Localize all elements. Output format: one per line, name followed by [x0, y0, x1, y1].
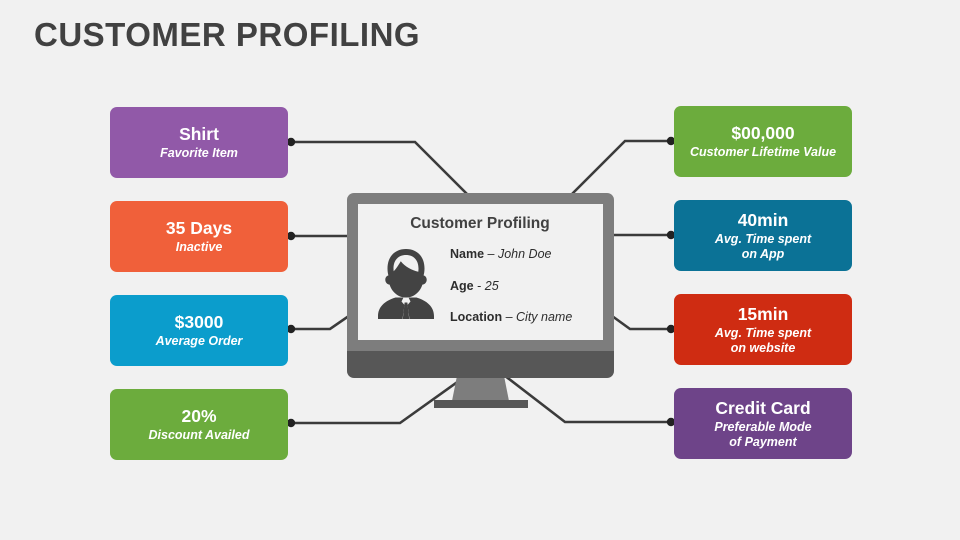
- profile-fields: Name – John Doe Age - 25 Location – City…: [450, 248, 610, 343]
- connector-dot-left-1: [287, 138, 295, 146]
- profile-row-age: Age - 25: [450, 280, 610, 293]
- card-label: Customer Lifetime Value: [690, 145, 836, 160]
- slide-canvas: CUSTOMER PROFILING Shirt Favorite Item: [0, 0, 960, 540]
- card-discount-availed[interactable]: 20% Discount Availed: [110, 389, 288, 460]
- card-time-spent-app[interactable]: 40min Avg. Time spent on App: [674, 200, 852, 271]
- profile-key: Name: [450, 247, 484, 261]
- profile-value: John Doe: [498, 247, 552, 261]
- card-value: $00,000: [731, 123, 794, 143]
- profile-separator: -: [477, 279, 481, 293]
- profile-value: 25: [485, 279, 499, 293]
- connector-dot-left-2: [287, 232, 295, 240]
- connector-right-4: [500, 372, 670, 422]
- monitor-bottom-bezel: [347, 351, 614, 378]
- card-inactive-days[interactable]: 35 Days Inactive: [110, 201, 288, 272]
- card-average-order[interactable]: $3000 Average Order: [110, 295, 288, 366]
- connector-left-1: [292, 142, 470, 197]
- profile-separator: –: [488, 247, 495, 261]
- profile-row-name: Name – John Doe: [450, 248, 610, 261]
- card-value: $3000: [175, 312, 224, 332]
- card-value: Credit Card: [715, 398, 810, 418]
- screen-title: Customer Profiling: [0, 215, 960, 233]
- profile-key: Age: [450, 279, 474, 293]
- profile-key: Location: [450, 310, 502, 324]
- card-label: Avg. Time spent on App: [715, 232, 811, 261]
- card-favorite-item[interactable]: Shirt Favorite Item: [110, 107, 288, 178]
- card-value: 20%: [181, 406, 216, 426]
- profile-row-location: Location – City name: [450, 311, 610, 324]
- card-label: Avg. Time spent on website: [715, 326, 811, 355]
- card-customer-lifetime-value[interactable]: $00,000 Customer Lifetime Value: [674, 106, 852, 177]
- profile-value: City name: [516, 310, 572, 324]
- profile-separator: –: [506, 310, 513, 324]
- card-payment-mode[interactable]: Credit Card Preferable Mode of Payment: [674, 388, 852, 459]
- connector-left-4: [292, 373, 470, 423]
- monitor-stand-neck: [452, 378, 509, 401]
- card-label: Average Order: [156, 334, 243, 349]
- monitor-stand-base: [434, 400, 528, 408]
- card-value: Shirt: [179, 124, 219, 144]
- connector-dot-left-3: [287, 325, 295, 333]
- card-label: Discount Availed: [149, 428, 250, 443]
- person-avatar-icon: [374, 247, 438, 319]
- card-value: 15min: [738, 304, 789, 324]
- card-label: Favorite Item: [160, 146, 238, 161]
- card-label: Inactive: [176, 240, 223, 255]
- card-time-spent-website[interactable]: 15min Avg. Time spent on website: [674, 294, 852, 365]
- card-label: Preferable Mode of Payment: [714, 420, 811, 449]
- connector-right-1: [570, 141, 670, 196]
- connector-dot-left-4: [287, 419, 295, 427]
